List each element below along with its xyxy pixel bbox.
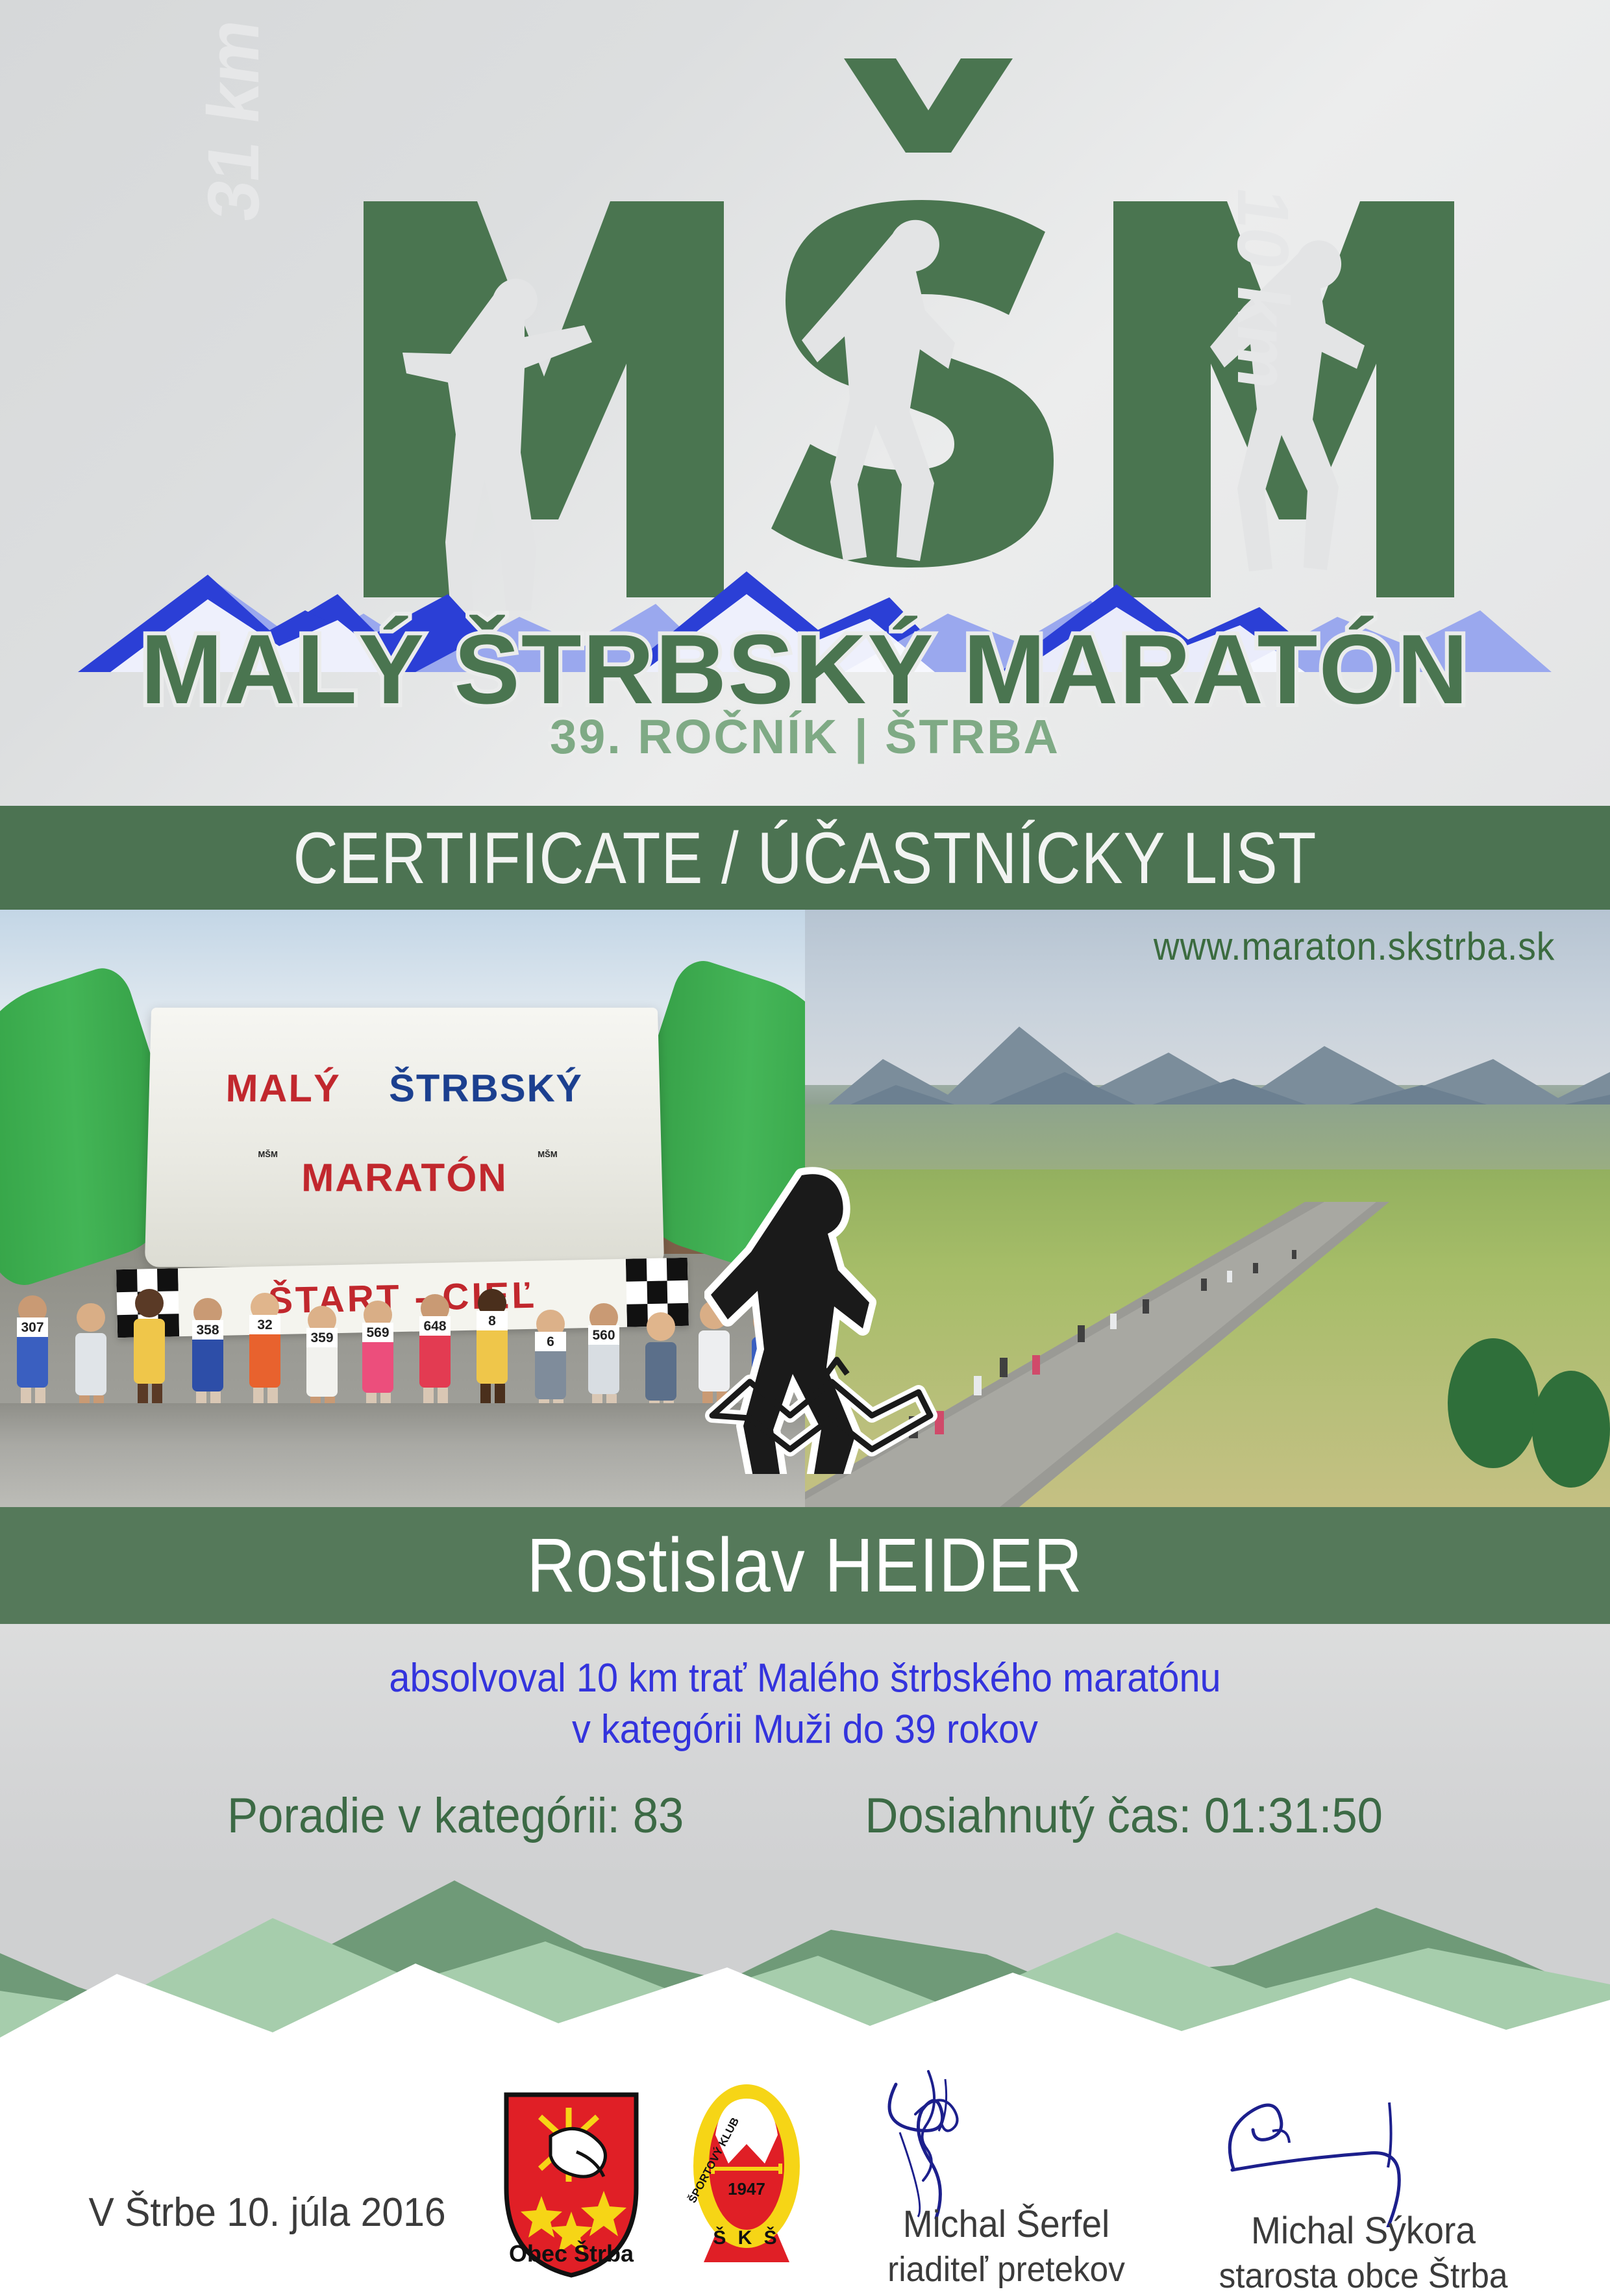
banner-badge-left: MŠM bbox=[245, 1150, 290, 1158]
participant-name-band: Rostislav HEIDER bbox=[0, 1507, 1610, 1624]
certificate-title-band: CERTIFICATE / ÚČASTNÍCKY LIST bbox=[0, 806, 1610, 910]
mayor-name: Michal Sýkora bbox=[1203, 2209, 1524, 2252]
description-line-2: v kategórii Muži do 39 rokov bbox=[56, 1704, 1554, 1755]
event-subheadline: 39. ROČNÍK | ŠTRBA bbox=[0, 713, 1610, 761]
bib-number: 359 bbox=[310, 1330, 333, 1345]
banner-badge-right: MŠM bbox=[525, 1150, 570, 1158]
certificate-footer: V Štrbe 10. júla 2016 Obec Štrba 1947 Š … bbox=[0, 1961, 1610, 2278]
bib-number: 648 bbox=[423, 1319, 446, 1334]
finish-time: Dosiahnutý čas: 01:31:50 bbox=[865, 1788, 1383, 1844]
crest-caption: Obec Štrba bbox=[500, 2240, 643, 2267]
category-rank: Poradie v kategórii: 83 bbox=[227, 1788, 684, 1844]
tatra-mountains bbox=[805, 981, 1610, 1124]
distance-right-label: 10 km bbox=[1221, 183, 1305, 395]
arch-banner: MALÝ ŠTRBSKÝ MARATÓN MŠM MŠM bbox=[145, 1008, 664, 1267]
msm-runner-badge bbox=[704, 1156, 938, 1474]
start-line-photo: MALÝ ŠTRBSKÝ MARATÓN MŠM MŠM ŠTART - CIE… bbox=[0, 910, 805, 1507]
distance-left-label: 31 km bbox=[192, 14, 275, 226]
event-headline: MALÝ ŠTRBSKÝ MARATÓN bbox=[0, 620, 1610, 719]
director-role: riaditeľ pretekov bbox=[846, 2249, 1167, 2290]
runner-crowd: 307 358 32 359 569 648 8 6 560 bbox=[0, 1267, 805, 1507]
bib-number: 569 bbox=[366, 1325, 389, 1340]
bib-number: 560 bbox=[592, 1328, 615, 1343]
sks-club-emblem: 1947 Š K Š ŠPORTOVÝ KLUB bbox=[675, 2083, 818, 2271]
website-url: www.maraton.skstrba.sk bbox=[1154, 924, 1555, 969]
arch-text-strbsky: ŠTRBSKÝ bbox=[389, 1067, 584, 1110]
description-line-1: absolvoval 10 km trať Malého štrbského m… bbox=[56, 1653, 1554, 1704]
club-year: 1947 bbox=[728, 2179, 765, 2199]
arch-text-maraton: MARATÓN bbox=[301, 1156, 508, 1199]
certificate-title: CERTIFICATE / ÚČASTNÍCKY LIST bbox=[293, 816, 1317, 900]
arch-banner-line1: MALÝ ŠTRBSKÝ bbox=[149, 1066, 660, 1110]
bib-number: 8 bbox=[488, 1314, 496, 1329]
bib-number: 32 bbox=[257, 1317, 272, 1332]
signature-scribble-mayor bbox=[1195, 2071, 1532, 2227]
results-row: Poradie v kategórii: 83 Dosiahnutý čas: … bbox=[56, 1788, 1554, 1844]
bib-number: 307 bbox=[21, 1320, 43, 1335]
director-name: Michal Šerfel bbox=[846, 2202, 1167, 2246]
participant-description: absolvoval 10 km trať Malého štrbského m… bbox=[56, 1653, 1554, 1756]
signature-scribble-director bbox=[837, 2065, 1175, 2221]
bib-number: 358 bbox=[196, 1323, 219, 1338]
logo-header-area: 31 km 10 km MALÝ ŠTRBSKÝ MARATÓN 39. ROČ… bbox=[0, 0, 1610, 806]
mayor-role: starosta obce Štrba bbox=[1203, 2256, 1524, 2296]
arch-banner-line2: MARATÓN bbox=[146, 1155, 662, 1200]
arch-text-maly: MALÝ bbox=[225, 1067, 341, 1110]
bib-number: 6 bbox=[547, 1334, 554, 1349]
msm-runner-svg bbox=[704, 1156, 938, 1474]
club-initials: Š K Š bbox=[713, 2227, 780, 2249]
issue-date: V Štrbe 10. júla 2016 bbox=[88, 2190, 445, 2236]
participant-name: Rostislav HEIDER bbox=[527, 1521, 1084, 1610]
road-surface bbox=[0, 1403, 805, 1507]
